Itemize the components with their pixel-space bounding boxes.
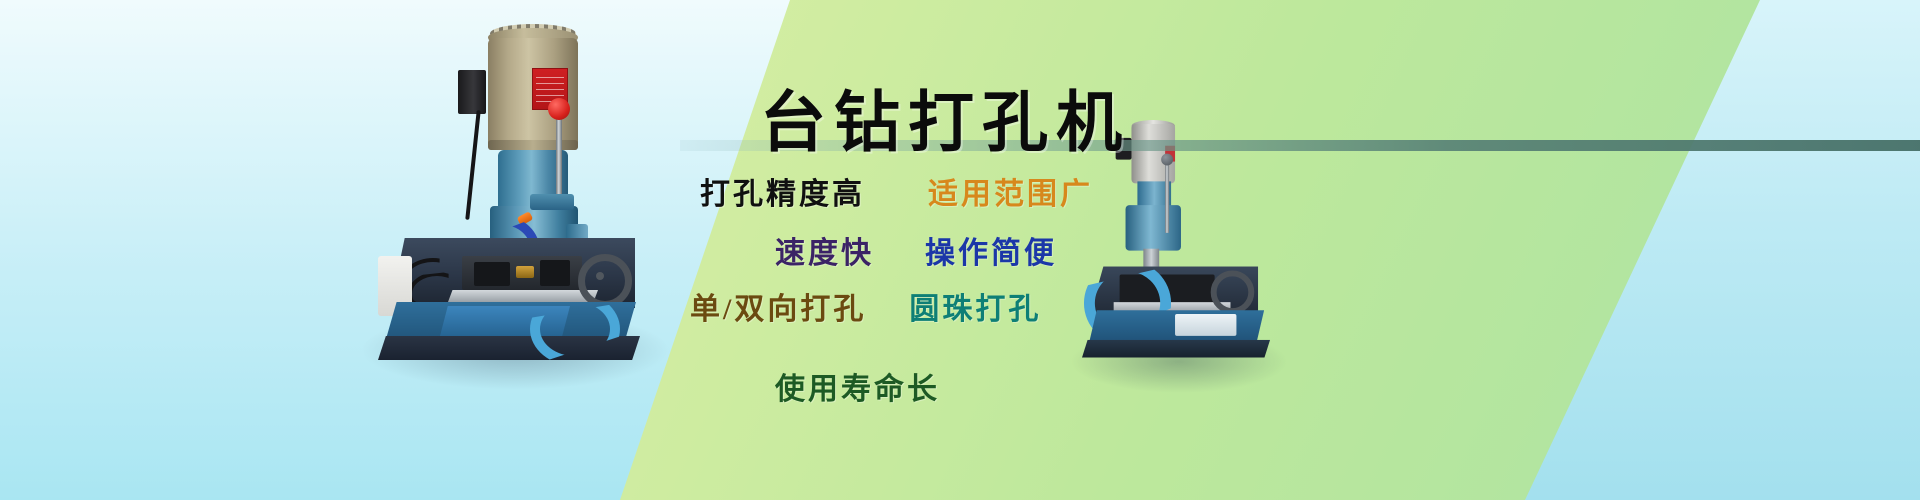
page-title: 台钻打孔机	[760, 88, 1130, 160]
lever-knob	[548, 98, 570, 120]
feature-fast-speed: 速度快	[775, 237, 874, 271]
feature-row-2: 速度快 操作简便	[775, 237, 1057, 271]
feature-easy-operation: 操作简便	[925, 237, 1057, 271]
feature-ball-drilling: 圆珠打孔	[909, 293, 1041, 327]
feature-row-1: 打孔精度高 适用范围广	[700, 178, 1093, 212]
feature-wide-application: 适用范围广	[928, 178, 1093, 212]
handwheel	[578, 254, 632, 308]
feature-long-service-life: 使用寿命长	[775, 373, 940, 407]
feature-single-double-drilling: 单/双向打孔	[690, 293, 866, 327]
feature-drill-precision: 打孔精度高	[700, 178, 865, 212]
feature-row-4: 使用寿命长	[775, 373, 940, 407]
bench-drill-main-image	[370, 10, 670, 375]
feature-row-3: 单/双向打孔 圆珠打孔	[690, 293, 1041, 327]
promo-banner: 台钻打孔机 打孔精度高 适用范围广 速度快 操作简便 单/双向打孔 圆珠打孔 使…	[0, 0, 1920, 500]
junction-box	[458, 70, 486, 114]
